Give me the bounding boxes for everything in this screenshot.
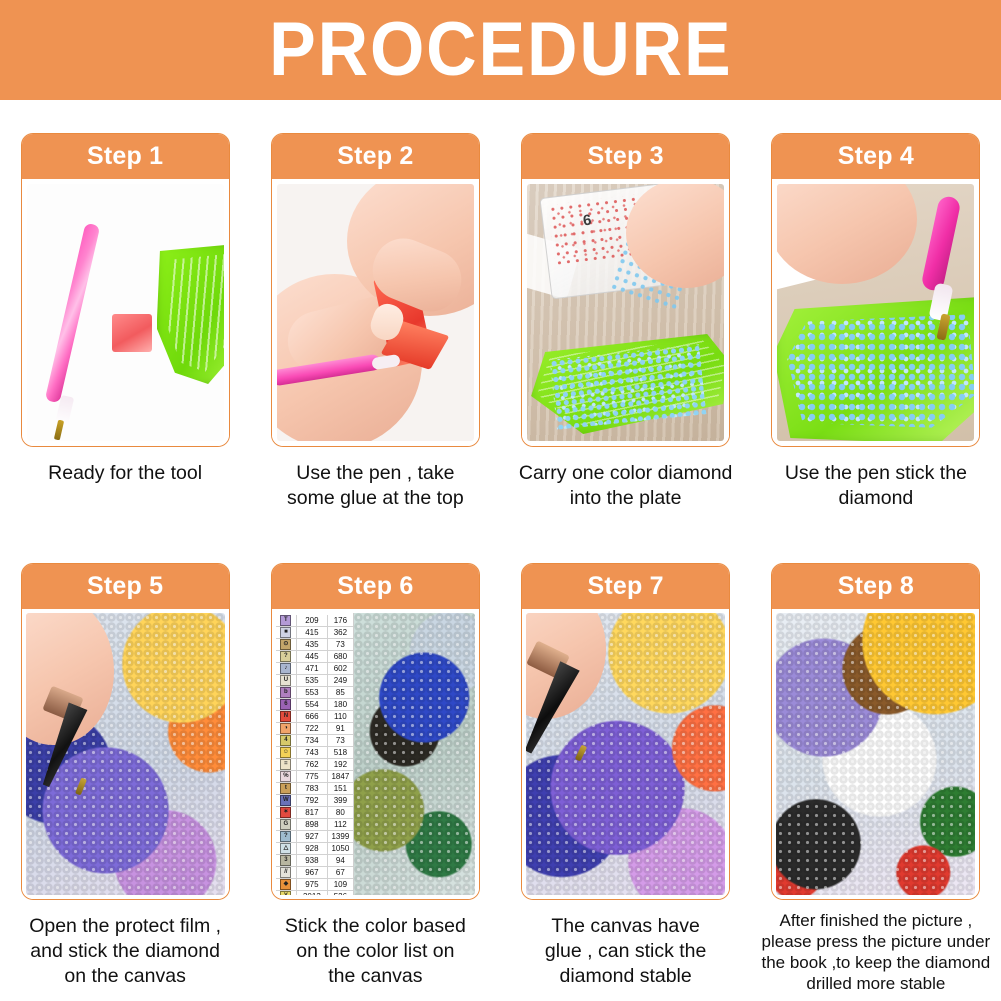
legend-row: t783151 <box>276 783 353 795</box>
pink-pen-icon <box>921 195 962 292</box>
page-banner: PROCEDURE <box>0 0 1001 100</box>
legend-row: ✶81780 <box>276 807 353 819</box>
step-header-4: Step 4 <box>772 134 979 179</box>
legend-count: 249 <box>328 675 353 686</box>
legend-count: 91 <box>328 723 353 734</box>
legend-row: G898112 <box>276 819 353 831</box>
step-cell-8: Step 8 After finished the picture , plea… <box>751 563 1001 994</box>
legend-color-code: 415 <box>297 627 328 638</box>
step-caption-7: The canvas have glue , can stick the dia… <box>512 914 740 989</box>
legend-color-code: 209 <box>297 615 328 626</box>
legend-count: 362 <box>328 627 353 638</box>
legend-row: 6554180 <box>276 699 353 711</box>
photo-glued-canvas <box>526 613 725 895</box>
steps-row-bottom: Step 5 Open the protect film , and stic <box>0 563 1001 994</box>
legend-row: //96767 <box>276 867 353 879</box>
step-image-4 <box>772 179 979 446</box>
step-cell-4: Step 4 Use the pen stick the diamond <box>751 133 1001 511</box>
step-header-3: Step 3 <box>522 134 729 179</box>
legend-count: 67 <box>328 867 353 878</box>
legend-row: △9281050 <box>276 843 353 855</box>
legend-count: 73 <box>328 639 353 650</box>
step-header-6: Step 6 <box>272 564 479 609</box>
step-card-7: Step 7 <box>521 563 730 900</box>
legend-symbol: ♪ <box>276 663 297 674</box>
legend-row: =762192 <box>276 759 353 771</box>
legend-color-code: 783 <box>297 783 328 794</box>
legend-symbol: ? <box>276 831 297 842</box>
step-header-2: Step 2 <box>272 134 479 179</box>
step-caption-2: Use the pen , take some glue at the top <box>261 461 489 511</box>
legend-count: 1399 <box>328 831 353 842</box>
legend-count: 192 <box>328 759 353 770</box>
legend-color-code: 762 <box>297 759 328 770</box>
step-card-4: Step 4 <box>771 133 980 447</box>
step-caption-5: Open the protect film , and stick the di… <box>11 914 239 989</box>
legend-row: 393894 <box>276 855 353 867</box>
photo-pen-into-glue <box>277 184 474 441</box>
step-header-7: Step 7 <box>522 564 729 609</box>
step-image-3: 6 <box>522 179 729 446</box>
step-caption-1: Ready for the tool <box>11 461 239 486</box>
photo-finished-picture <box>776 613 975 895</box>
legend-symbol: N <box>276 711 297 722</box>
legend-count: 176 <box>328 615 353 626</box>
legend-row: ◆975109 <box>276 879 353 891</box>
legend-color-code: 535 <box>297 675 328 686</box>
legend-symbol: 6 <box>276 699 297 710</box>
glue-wax-icon <box>112 314 152 352</box>
step-cell-6: Step 6 T209176■415362⊙43573?445680♪47160… <box>250 563 500 994</box>
mosaic-bead-highlights <box>776 613 975 895</box>
legend-color-code: 722 <box>297 723 328 734</box>
legend-count: 94 <box>328 855 353 866</box>
legend-color-code: 817 <box>297 807 328 818</box>
legend-symbol: T <box>276 615 297 626</box>
legend-row: b55385 <box>276 687 353 699</box>
step-header-1: Step 1 <box>22 134 229 179</box>
legend-color-code: 666 <box>297 711 328 722</box>
color-legend-table: T209176■415362⊙43573?445680♪471602U53524… <box>276 613 354 895</box>
legend-count: 85 <box>328 687 353 698</box>
step-header-5: Step 5 <box>22 564 229 609</box>
page-title: PROCEDURE <box>269 12 732 88</box>
step-cell-2: Step 2 Use the pen , take some <box>250 133 500 511</box>
legend-symbol: W <box>276 795 297 806</box>
legend-count: 1050 <box>328 843 353 854</box>
photo-color-list: T209176■415362⊙43573?445680♪471602U53524… <box>276 613 475 895</box>
mosaic-bead-highlights <box>354 613 475 895</box>
legend-count: 1847 <box>328 771 353 782</box>
legend-color-code: 471 <box>297 663 328 674</box>
mosaic-canvas <box>354 613 475 895</box>
legend-color-code: 734 <box>297 735 328 746</box>
legend-count: 526 <box>328 891 353 895</box>
legend-count: 518 <box>328 747 353 758</box>
legend-color-code: 927 <box>297 831 328 842</box>
step-card-8: Step 8 <box>771 563 980 900</box>
legend-row: %7751847 <box>276 771 353 783</box>
step-card-5: Step 5 <box>21 563 230 900</box>
legend-count: 151 <box>328 783 353 794</box>
photo-pour-diamonds: 6 <box>527 184 724 441</box>
legend-symbol: b <box>276 687 297 698</box>
legend-symbol: ◆ <box>276 879 297 890</box>
legend-color-code: 3013 <box>297 891 328 895</box>
legend-symbol: // <box>276 867 297 878</box>
step-caption-8: After finished the picture , please pres… <box>753 910 999 994</box>
legend-count: 110 <box>328 711 353 722</box>
legend-symbol: t <box>276 783 297 794</box>
legend-color-code: 743 <box>297 747 328 758</box>
legend-row: W792399 <box>276 795 353 807</box>
legend-symbol: U <box>276 675 297 686</box>
legend-row: U535249 <box>276 675 353 687</box>
legend-row: Y3013526 <box>276 891 353 895</box>
legend-color-code: 445 <box>297 651 328 662</box>
legend-symbol: ? <box>276 651 297 662</box>
step-cell-3: Step 3 6 Carry one <box>501 133 751 511</box>
legend-color-code: 938 <box>297 855 328 866</box>
step-header-8: Step 8 <box>772 564 979 609</box>
legend-count: 80 <box>328 807 353 818</box>
legend-count: 109 <box>328 879 353 890</box>
legend-row: ♪471602 <box>276 663 353 675</box>
legend-symbol: ◑ <box>276 723 297 734</box>
step-cell-7: Step 7 The canvas have glue , can stick <box>501 563 751 994</box>
legend-symbol: = <box>276 759 297 770</box>
legend-symbol: ☺ <box>276 747 297 758</box>
step-image-2 <box>272 179 479 446</box>
legend-symbol: ■ <box>276 627 297 638</box>
photo-stick-on-canvas <box>26 613 225 895</box>
step-cell-5: Step 5 Open the protect film , and stic <box>0 563 250 994</box>
step-card-3: Step 3 6 <box>521 133 730 447</box>
legend-symbol: △ <box>276 843 297 854</box>
legend-count: 180 <box>328 699 353 710</box>
photo-pick-diamond <box>777 184 974 441</box>
legend-color-code: 792 <box>297 795 328 806</box>
procedure-infographic: PROCEDURE Step 1 Ready for the to <box>0 0 1001 1001</box>
step-caption-4: Use the pen stick the diamond <box>762 461 990 511</box>
legend-symbol: G <box>276 819 297 830</box>
legend-row: ?445680 <box>276 651 353 663</box>
step-image-6: T209176■415362⊙43573?445680♪471602U53524… <box>272 609 479 899</box>
legend-symbol: 4 <box>276 735 297 746</box>
legend-row: ⊙43573 <box>276 639 353 651</box>
step-card-6: Step 6 T209176■415362⊙43573?445680♪47160… <box>271 563 480 900</box>
legend-color-code: 554 <box>297 699 328 710</box>
legend-color-code: 775 <box>297 771 328 782</box>
legend-row: ◑72291 <box>276 723 353 735</box>
step-caption-3: Carry one color diamond into the plate <box>512 461 740 511</box>
legend-count: 399 <box>328 795 353 806</box>
hand-icon <box>777 184 917 284</box>
step-cell-1: Step 1 Ready for the tool <box>0 133 250 511</box>
legend-count: 73 <box>328 735 353 746</box>
legend-row: 473473 <box>276 735 353 747</box>
legend-count: 602 <box>328 663 353 674</box>
legend-row: ☺743518 <box>276 747 353 759</box>
legend-color-code: 898 <box>297 819 328 830</box>
pink-pen-icon <box>44 223 100 404</box>
photo-tools <box>27 184 224 441</box>
step-image-1 <box>22 179 229 446</box>
mosaic-canvas <box>776 613 975 895</box>
legend-symbol: ⊙ <box>276 639 297 650</box>
steps-row-top: Step 1 Ready for the tool Step 2 <box>0 133 1001 511</box>
legend-row: N666110 <box>276 711 353 723</box>
legend-symbol: 3 <box>276 855 297 866</box>
step-image-8 <box>772 609 979 899</box>
legend-color-code: 975 <box>297 879 328 890</box>
step-card-2: Step 2 <box>271 133 480 447</box>
step-image-7 <box>522 609 729 899</box>
step-card-1: Step 1 <box>21 133 230 447</box>
legend-symbol: Y <box>276 891 297 895</box>
step-caption-6: Stick the color based on the color list … <box>261 914 489 989</box>
legend-color-code: 435 <box>297 639 328 650</box>
legend-color-code: 967 <box>297 867 328 878</box>
legend-color-code: 928 <box>297 843 328 854</box>
legend-row: ?9271399 <box>276 831 353 843</box>
legend-count: 680 <box>328 651 353 662</box>
step-image-5 <box>22 609 229 899</box>
legend-row: T209176 <box>276 615 353 627</box>
legend-symbol: % <box>276 771 297 782</box>
legend-symbol: ✶ <box>276 807 297 818</box>
legend-count: 112 <box>328 819 353 830</box>
legend-row: ■415362 <box>276 627 353 639</box>
legend-color-code: 553 <box>297 687 328 698</box>
